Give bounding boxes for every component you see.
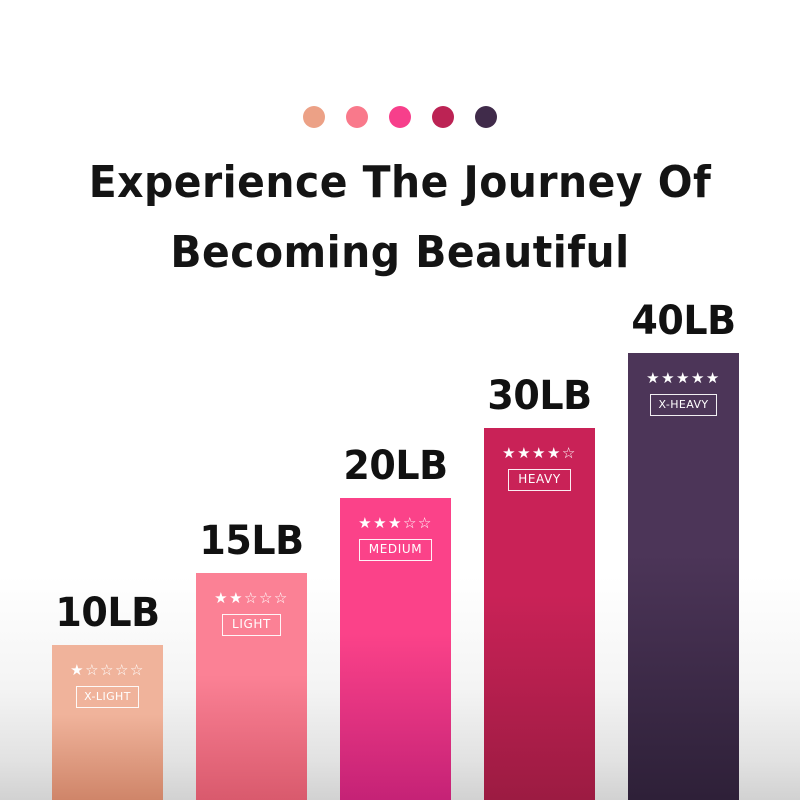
star-rating-icon: ★☆☆☆☆ bbox=[52, 663, 163, 679]
star-rating-icon: ★★★★☆ bbox=[484, 446, 595, 462]
bar-fill: ★★★★★X-HEAVY bbox=[628, 353, 739, 800]
bar-value-label: 15LB bbox=[185, 521, 317, 561]
bar-fill: ★★★☆☆MEDIUM bbox=[340, 498, 451, 800]
bar-fill: ★★☆☆☆LIGHT bbox=[196, 573, 307, 800]
tier-label: X-LIGHT bbox=[76, 686, 139, 708]
bar-badge: ★★★☆☆MEDIUM bbox=[340, 516, 451, 561]
bar-badge: ★☆☆☆☆X-LIGHT bbox=[52, 663, 163, 708]
tier-label: MEDIUM bbox=[359, 539, 432, 561]
bar-badge: ★★☆☆☆LIGHT bbox=[196, 591, 307, 636]
bar-column-x-heavy[interactable]: 40LB★★★★★X-HEAVY bbox=[628, 353, 739, 800]
bar-value-label: 40LB bbox=[617, 301, 749, 341]
product-poster: Experience The Journey Of Becoming Beaut… bbox=[0, 0, 800, 800]
bar-badge: ★★★★★X-HEAVY bbox=[628, 371, 739, 416]
star-rating-icon: ★★★☆☆ bbox=[340, 516, 451, 532]
star-rating-icon: ★★★★★ bbox=[628, 371, 739, 387]
resistance-band-bar-chart: 10LB★☆☆☆☆X-LIGHT15LB★★☆☆☆LIGHT20LB★★★☆☆M… bbox=[52, 0, 745, 800]
bar-fill: ★☆☆☆☆X-LIGHT bbox=[52, 645, 163, 800]
bar-value-label: 10LB bbox=[41, 593, 173, 633]
bar-column-x-light[interactable]: 10LB★☆☆☆☆X-LIGHT bbox=[52, 645, 163, 800]
bar-column-medium[interactable]: 20LB★★★☆☆MEDIUM bbox=[340, 498, 451, 800]
tier-label: HEAVY bbox=[508, 469, 571, 491]
bar-value-label: 20LB bbox=[329, 446, 461, 486]
bar-column-heavy[interactable]: 30LB★★★★☆HEAVY bbox=[484, 428, 595, 800]
bar-value-label: 30LB bbox=[473, 376, 605, 416]
tier-label: LIGHT bbox=[222, 614, 281, 636]
tier-label: X-HEAVY bbox=[650, 394, 716, 416]
star-rating-icon: ★★☆☆☆ bbox=[196, 591, 307, 607]
bar-fill: ★★★★☆HEAVY bbox=[484, 428, 595, 800]
bar-column-light[interactable]: 15LB★★☆☆☆LIGHT bbox=[196, 573, 307, 800]
bar-badge: ★★★★☆HEAVY bbox=[484, 446, 595, 491]
